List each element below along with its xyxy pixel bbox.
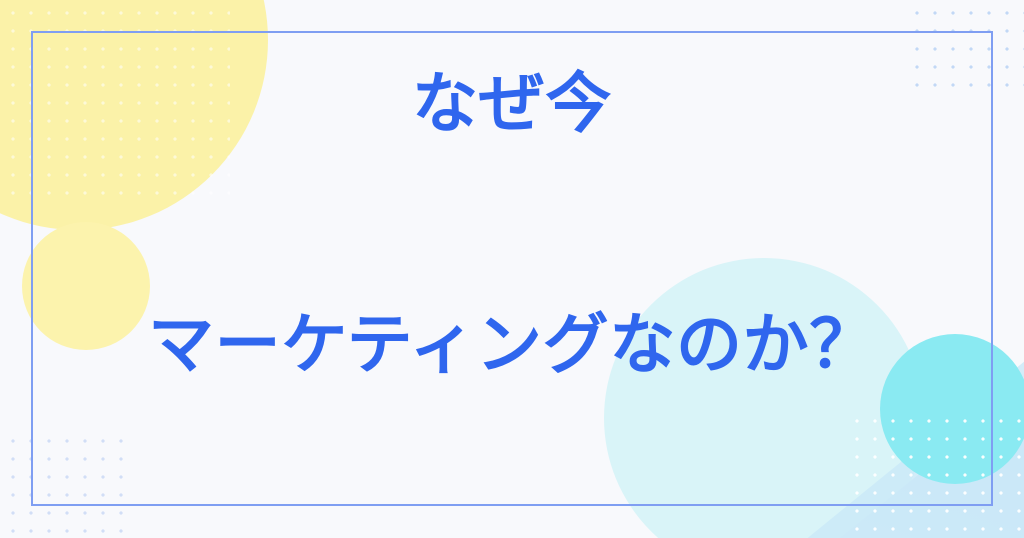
title-slide: なぜ今 マーケティングなのか？ 高度AI時代の持続的成長エンジン xyxy=(0,0,1024,538)
slide-title-line-1: なぜ今 xyxy=(148,63,876,144)
slide-title: なぜ今 マーケティングなのか？ xyxy=(148,0,876,538)
slide-text-block: なぜ今 マーケティングなのか？ 高度AI時代の持続的成長エンジン xyxy=(0,0,1024,538)
slide-title-line-2: マーケティングなのか？ xyxy=(148,304,876,385)
